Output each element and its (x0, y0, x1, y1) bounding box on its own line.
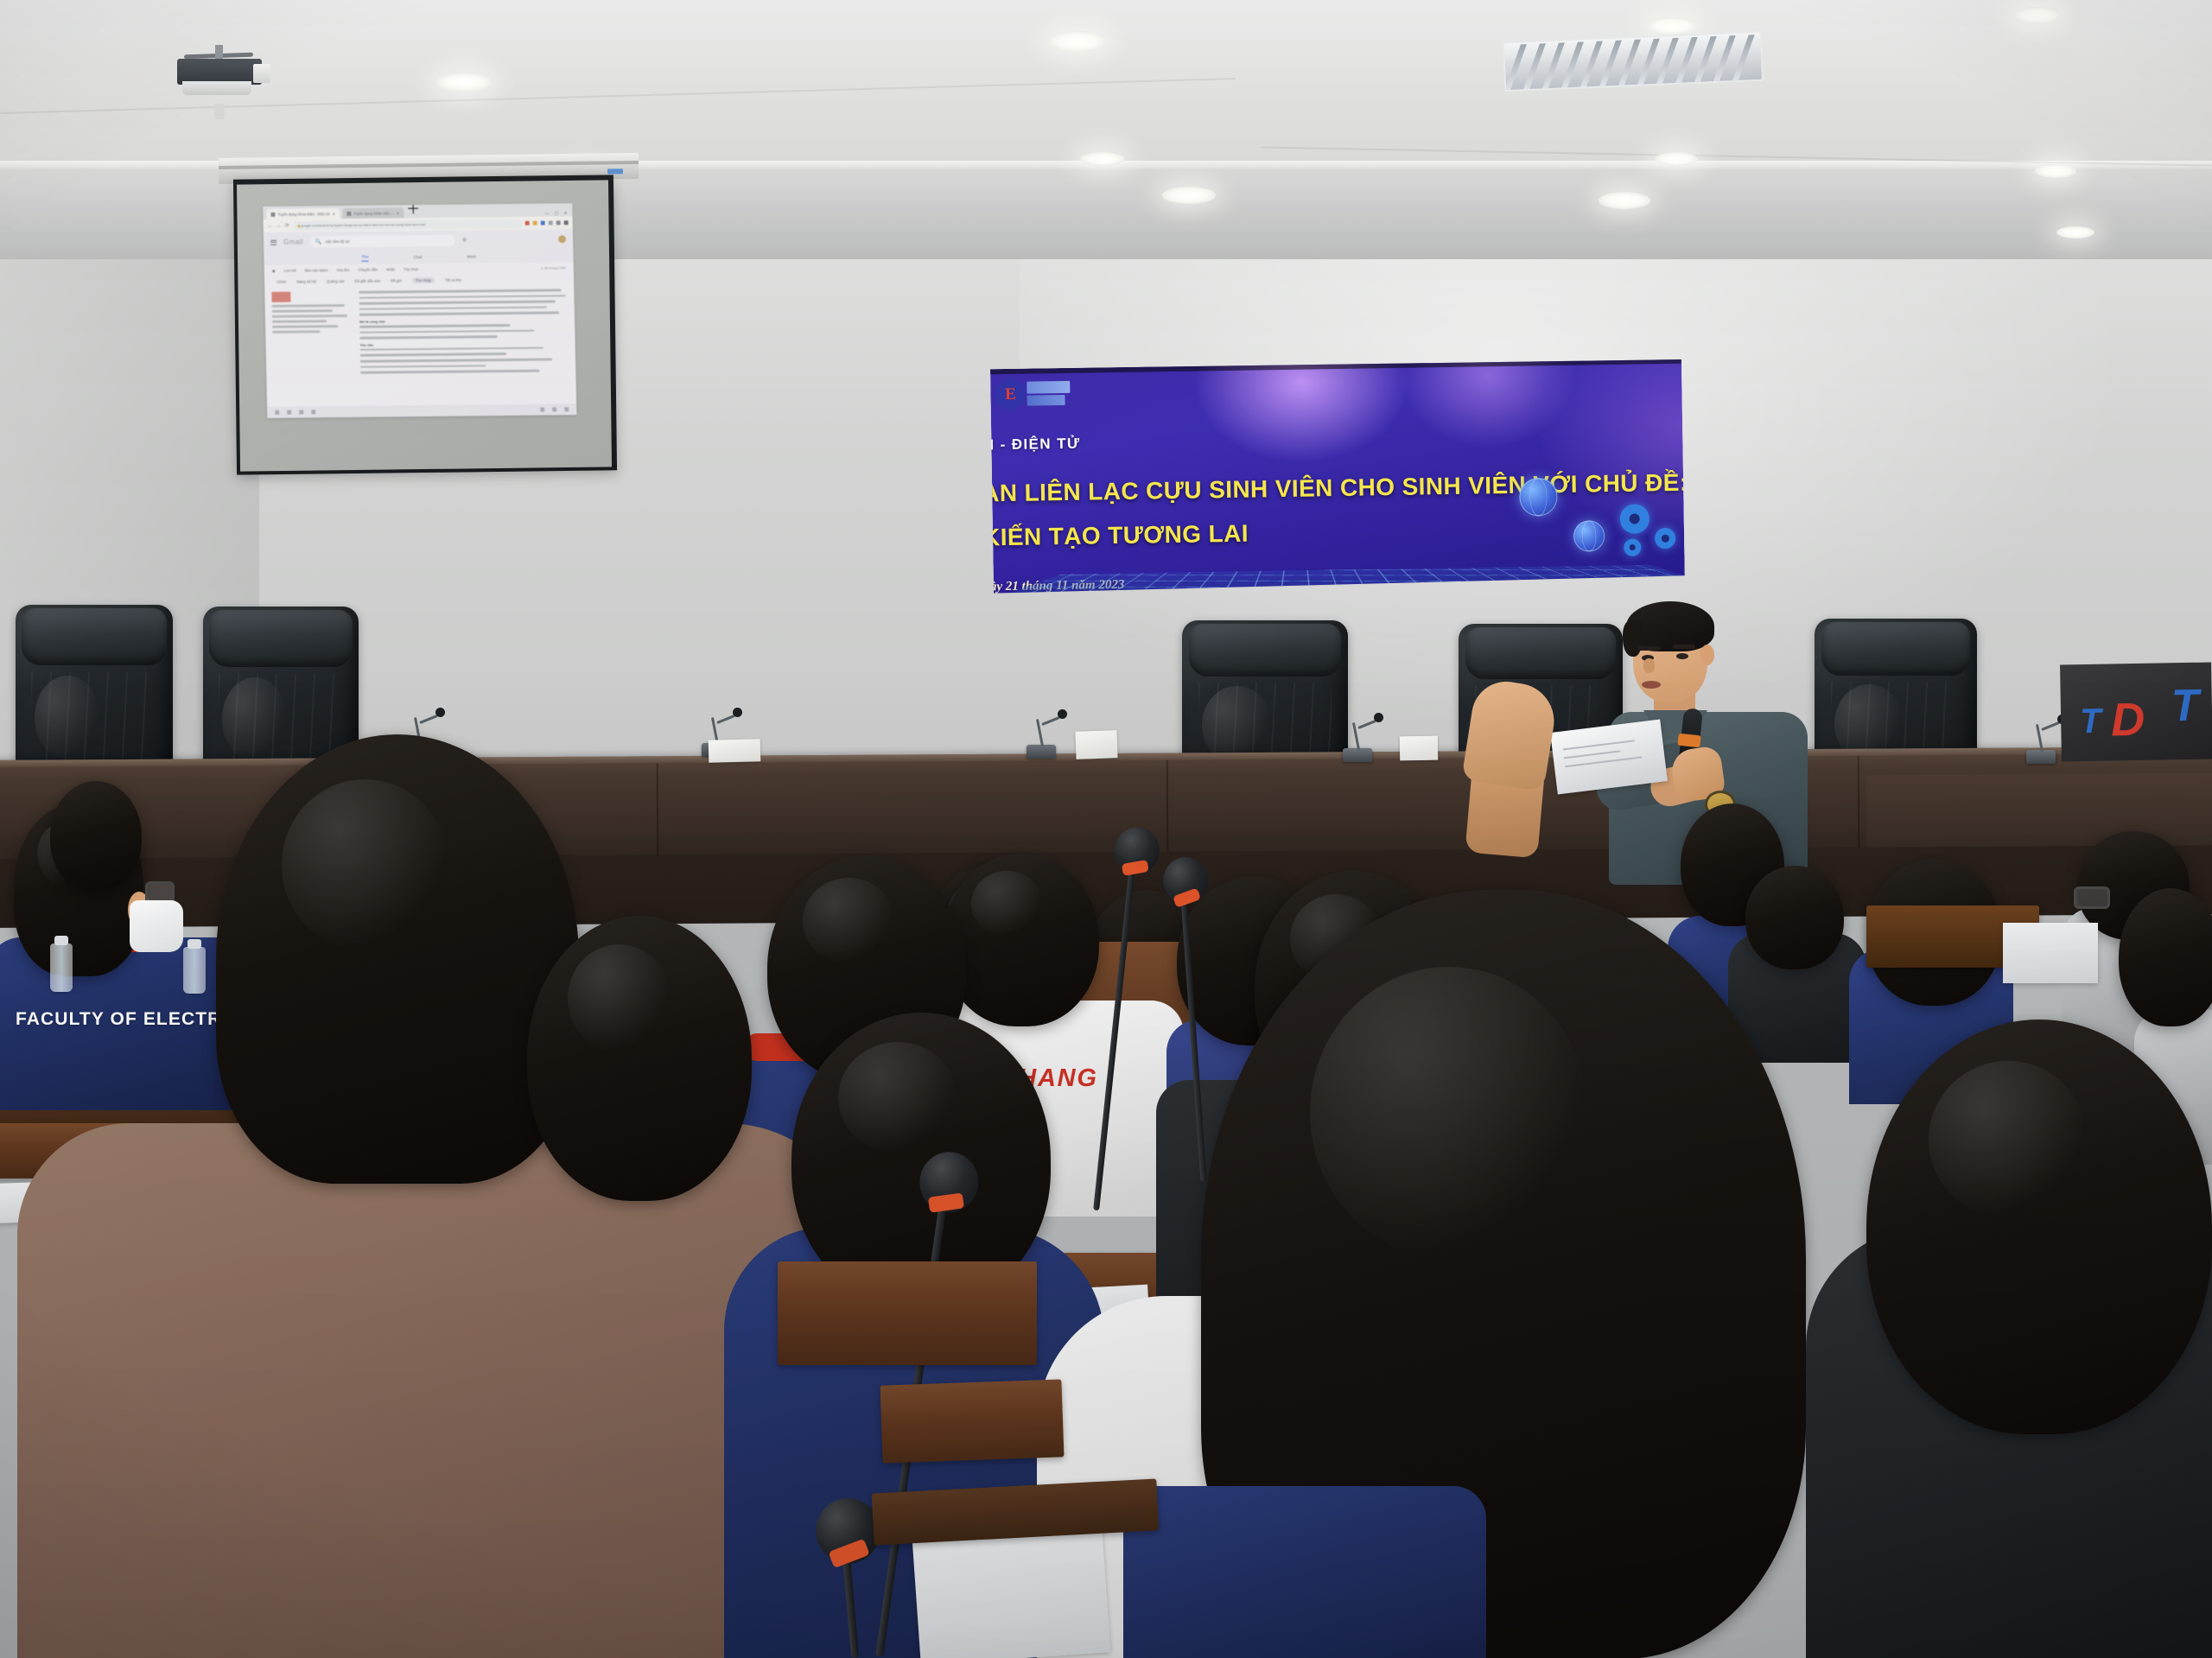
extension-icon (525, 221, 530, 226)
water-bottle (183, 947, 206, 994)
plaque-letter-d: D (2111, 693, 2140, 747)
status-icon (287, 410, 291, 415)
chip-primary: Chính (276, 280, 286, 284)
mail-pagination-counter: 1–50 trong 2.483 (541, 266, 566, 270)
audience-head (2119, 888, 2212, 1026)
faculty-logo-icon (995, 377, 1071, 414)
downlight-icon (436, 73, 492, 92)
projected-mail-app: Gmail 🔍 việc làm kỹ sư ⚙ Thư Chat Meet ▣… (264, 229, 577, 418)
microphone-band (1677, 734, 1700, 748)
speaker-ear (1700, 645, 1714, 665)
status-icon (311, 410, 315, 414)
downlight-icon (1162, 187, 1216, 204)
more-menu-icon (564, 220, 569, 225)
tab-close-icon: ✕ (333, 212, 336, 216)
banner-faculty-line: I - ĐIỆN TỬ (990, 435, 1081, 454)
downlight-icon (2056, 226, 2094, 238)
extension-icons (525, 220, 569, 226)
tab-meet: Meet (467, 254, 475, 258)
chip-starred: Đã gắn dấu sao (355, 279, 381, 283)
gooseneck-microphone (1027, 684, 1078, 759)
toolbar-labels: Nhãn (386, 267, 395, 271)
water-bottle (50, 943, 73, 992)
gear-icon (1624, 538, 1641, 556)
downlight-icon (1655, 152, 1698, 166)
address-bar-text: google.com/search?q=tuyen+dung+ky+su+die… (301, 223, 425, 228)
chip-drafts: Thư nháp (412, 277, 435, 283)
downlight-icon (1646, 17, 1698, 35)
sender-line (272, 309, 333, 313)
downlight-icon (1080, 152, 1125, 166)
audience-head-foreground (527, 916, 752, 1201)
chip-sent: Đã gửi (391, 278, 402, 283)
audience-desk (2003, 923, 2098, 983)
mail-search-input: 🔍 việc làm kỹ sư (310, 235, 455, 248)
browser-tab: Tuyển dụng Khoa Điện - Điện tử ✕ (266, 208, 340, 219)
university-logo-plaque: T D T (2060, 662, 2212, 761)
extension-icon (533, 221, 537, 226)
name-card (1075, 730, 1117, 759)
chip-promo: Quảng cáo (327, 279, 345, 283)
sender-thumbnail (271, 292, 290, 302)
speaker-eye (1676, 653, 1688, 659)
avatar (558, 235, 566, 243)
smoke-detector-icon (214, 104, 225, 119)
status-icon (275, 410, 279, 415)
gooseneck-microphone (1343, 695, 1391, 762)
chip-all: Tất cả thư (445, 278, 461, 283)
address-bar: 🔒 google.com/search?q=tuyen+dung+ky+su+d… (293, 219, 522, 230)
browser-tab: Tuyển dụng Nhân viên ... ✕ (342, 207, 404, 219)
seminar-hall-photo: Tuyển dụng Khoa Điện - Điện tử ✕ Tuyển d… (0, 0, 2212, 1658)
gear-icon (1620, 504, 1650, 534)
extension-icon (549, 220, 553, 225)
speaker-eyebrow (1638, 646, 1661, 651)
favicon-icon (346, 211, 351, 215)
mail-logo: Gmail (283, 238, 303, 245)
led-event-banner: I - ĐIỆN TỬ AN LIÊN LẠC CỰU SINH VIÊN CH… (990, 359, 1685, 596)
globe-icon (1519, 478, 1558, 517)
plaque-letter-t2: T (2171, 680, 2199, 733)
panel-chair (16, 605, 173, 773)
toolbar-move: Chuyển đến (358, 268, 378, 272)
gear-icon (1655, 528, 1675, 549)
projected-browser-window: Tuyển dụng Khoa Điện - Điện tử ✕ Tuyển d… (263, 203, 576, 418)
toolbar-archive: Lưu trữ (284, 269, 296, 273)
tab-close-icon: ✕ (397, 211, 400, 215)
downlight-icon (1048, 31, 1107, 52)
body-section-title: Yêu cầu (360, 340, 569, 347)
body-section-title: Mô tả công việc (359, 317, 568, 324)
status-icon (564, 407, 569, 411)
status-icon (299, 410, 303, 414)
maximize-icon: ▢ (554, 211, 558, 216)
toolbar-more: Tùy chọn (404, 267, 418, 271)
audience-bench (778, 1261, 1037, 1365)
logo-wordmark-secondary (1027, 395, 1065, 406)
browser-tab-title: Tuyển dụng Nhân viên ... (353, 211, 394, 215)
hamburger-menu-icon (270, 239, 276, 245)
new-tab-icon: ＋ (406, 203, 421, 218)
mail-search-value: việc làm kỹ sư (325, 239, 349, 244)
name-card (1400, 736, 1438, 761)
audience-head (50, 781, 142, 892)
select-all-checkbox: ▣ (272, 269, 276, 273)
mail-sender-column (271, 291, 355, 378)
banner-title-line-1: AN LIÊN LẠC CỰU SINH VIÊN CHO SINH VIÊN … (990, 469, 1685, 508)
reload-icon: ⟳ (285, 223, 289, 229)
toolbar-delete: Xóa thư (336, 268, 349, 272)
face-mask-icon (130, 900, 183, 952)
status-icon (540, 408, 544, 412)
close-icon: ✕ (563, 211, 567, 216)
audience-head (1745, 866, 1844, 969)
projection-screen: Tuyển dụng Khoa Điện - Điện tử ✕ Tuyển d… (233, 175, 617, 474)
banner-title-line-2: KIẾN TẠO TƯƠNG LAI (990, 520, 1249, 552)
name-card (709, 739, 761, 763)
logo-wordmark (1027, 381, 1070, 394)
downlight-icon (2035, 164, 2076, 178)
back-icon: ← (268, 223, 273, 228)
mail-content-column: Mô tả công việc Yêu cầu (359, 289, 569, 377)
status-icon (552, 407, 556, 411)
window-controls: — ▢ ✕ (544, 211, 569, 216)
audience-torso-foreground (1123, 1486, 1486, 1658)
sender-line (272, 304, 345, 308)
plaque-letter-t: T (2080, 702, 2098, 741)
downlight-icon (1599, 192, 1650, 209)
audience-head-foreground (216, 734, 579, 1184)
speaker-hair-side (1623, 620, 1642, 657)
sender-line (272, 314, 347, 318)
toolbar-spam: Báo cáo spam (305, 268, 328, 272)
sender-line (272, 330, 320, 334)
sender-line (272, 320, 327, 323)
extension-icon (541, 221, 545, 226)
hexagon-logo-icon (995, 378, 1026, 413)
downlight-icon (2013, 7, 2062, 24)
ceiling-projector-icon (177, 50, 268, 95)
browser-tab-title: Tuyển dụng Khoa Điện - Điện tử (277, 212, 329, 217)
gear-icon: ⚙ (462, 238, 467, 244)
audience-head-foreground (1866, 1020, 2212, 1434)
sender-line (272, 325, 338, 328)
minimize-icon: — (544, 212, 549, 217)
profile-icon (556, 220, 561, 225)
favicon-icon (270, 212, 275, 216)
chip-social: Mạng xã hội (296, 279, 316, 283)
audience-head (944, 854, 1099, 1026)
eyeglasses-icon (2074, 886, 2110, 909)
globe-icon (1573, 520, 1605, 552)
tab-chat: Chat (414, 255, 423, 259)
forward-icon: → (276, 223, 282, 228)
audience-bench (880, 1379, 1064, 1463)
speaker-eyebrow (1673, 645, 1695, 649)
speaker-mouth (1642, 681, 1661, 689)
speaker-nose (1643, 658, 1655, 673)
tab-mail: Thư (361, 254, 369, 261)
mail-message-body: Mô tả công việc Yêu cầu (264, 284, 575, 382)
search-icon: 🔍 (315, 238, 322, 245)
